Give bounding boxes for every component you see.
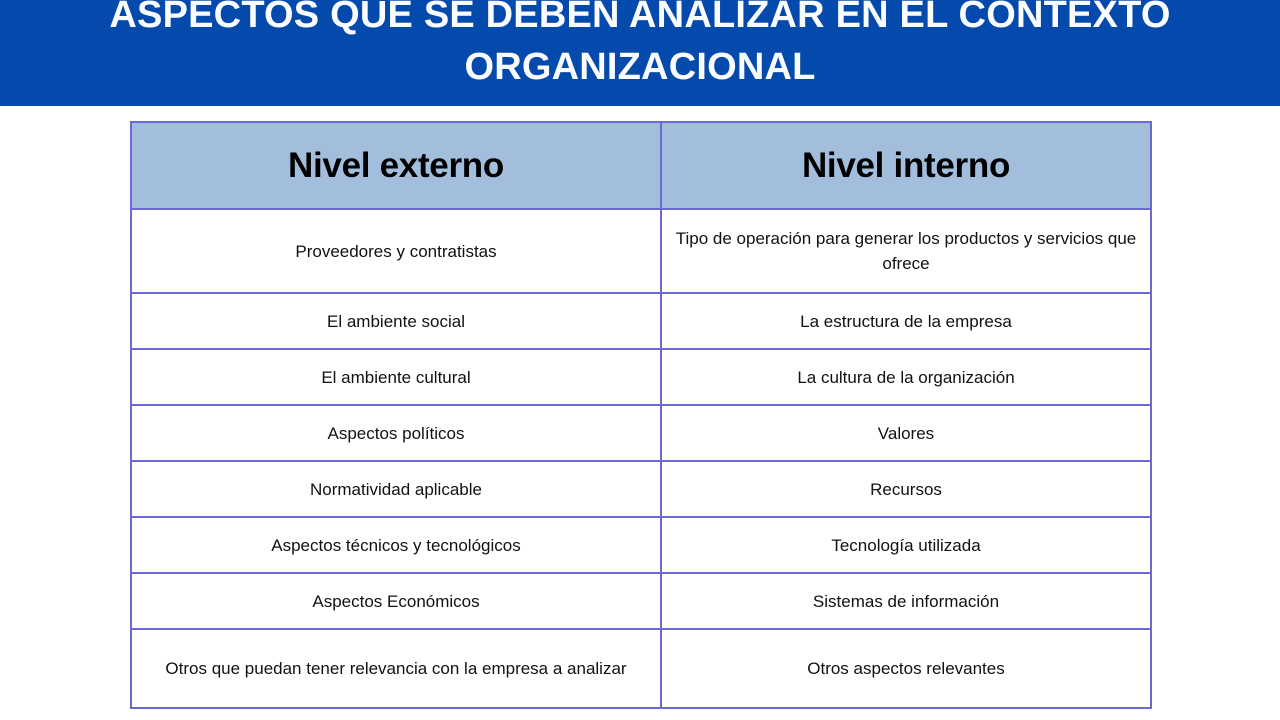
- table-row: El ambiente social La estructura de la e…: [131, 293, 1151, 349]
- table-row: Normatividad aplicable Recursos: [131, 461, 1151, 517]
- page-title: ASPECTOS QUE SE DEBEN ANALIZAR EN EL CON…: [0, 0, 1280, 93]
- cell-external: El ambiente social: [131, 293, 661, 349]
- cell-external: Aspectos técnicos y tecnológicos: [131, 517, 661, 573]
- cell-external: El ambiente cultural: [131, 349, 661, 405]
- cell-internal: Tipo de operación para generar los produ…: [661, 209, 1151, 293]
- table-row: Aspectos Económicos Sistemas de informac…: [131, 573, 1151, 629]
- title-band: ASPECTOS QUE SE DEBEN ANALIZAR EN EL CON…: [0, 0, 1280, 106]
- table-row: El ambiente cultural La cultura de la or…: [131, 349, 1151, 405]
- table-header: Nivel externo Nivel interno: [131, 122, 1151, 209]
- table-row: Proveedores y contratistas Tipo de opera…: [131, 209, 1151, 293]
- slide-canvas: ASPECTOS QUE SE DEBEN ANALIZAR EN EL CON…: [0, 0, 1280, 720]
- table-row: Aspectos técnicos y tecnológicos Tecnolo…: [131, 517, 1151, 573]
- aspects-table: Nivel externo Nivel interno Proveedores …: [130, 121, 1152, 709]
- cell-external: Aspectos políticos: [131, 405, 661, 461]
- column-header-nivel-externo: Nivel externo: [131, 122, 661, 209]
- table-header-row: Nivel externo Nivel interno: [131, 122, 1151, 209]
- cell-external: Normatividad aplicable: [131, 461, 661, 517]
- cell-internal: La estructura de la empresa: [661, 293, 1151, 349]
- cell-internal: Tecnología utilizada: [661, 517, 1151, 573]
- aspects-table-container: Nivel externo Nivel interno Proveedores …: [130, 121, 1150, 709]
- cell-external: Otros que puedan tener relevancia con la…: [131, 629, 661, 708]
- cell-internal: Valores: [661, 405, 1151, 461]
- table-body: Proveedores y contratistas Tipo de opera…: [131, 209, 1151, 708]
- cell-internal: Otros aspectos relevantes: [661, 629, 1151, 708]
- table-row: Aspectos políticos Valores: [131, 405, 1151, 461]
- cell-external: Proveedores y contratistas: [131, 209, 661, 293]
- cell-internal: Recursos: [661, 461, 1151, 517]
- cell-internal: Sistemas de información: [661, 573, 1151, 629]
- cell-internal: La cultura de la organización: [661, 349, 1151, 405]
- table-row: Otros que puedan tener relevancia con la…: [131, 629, 1151, 708]
- column-header-nivel-interno: Nivel interno: [661, 122, 1151, 209]
- cell-external: Aspectos Económicos: [131, 573, 661, 629]
